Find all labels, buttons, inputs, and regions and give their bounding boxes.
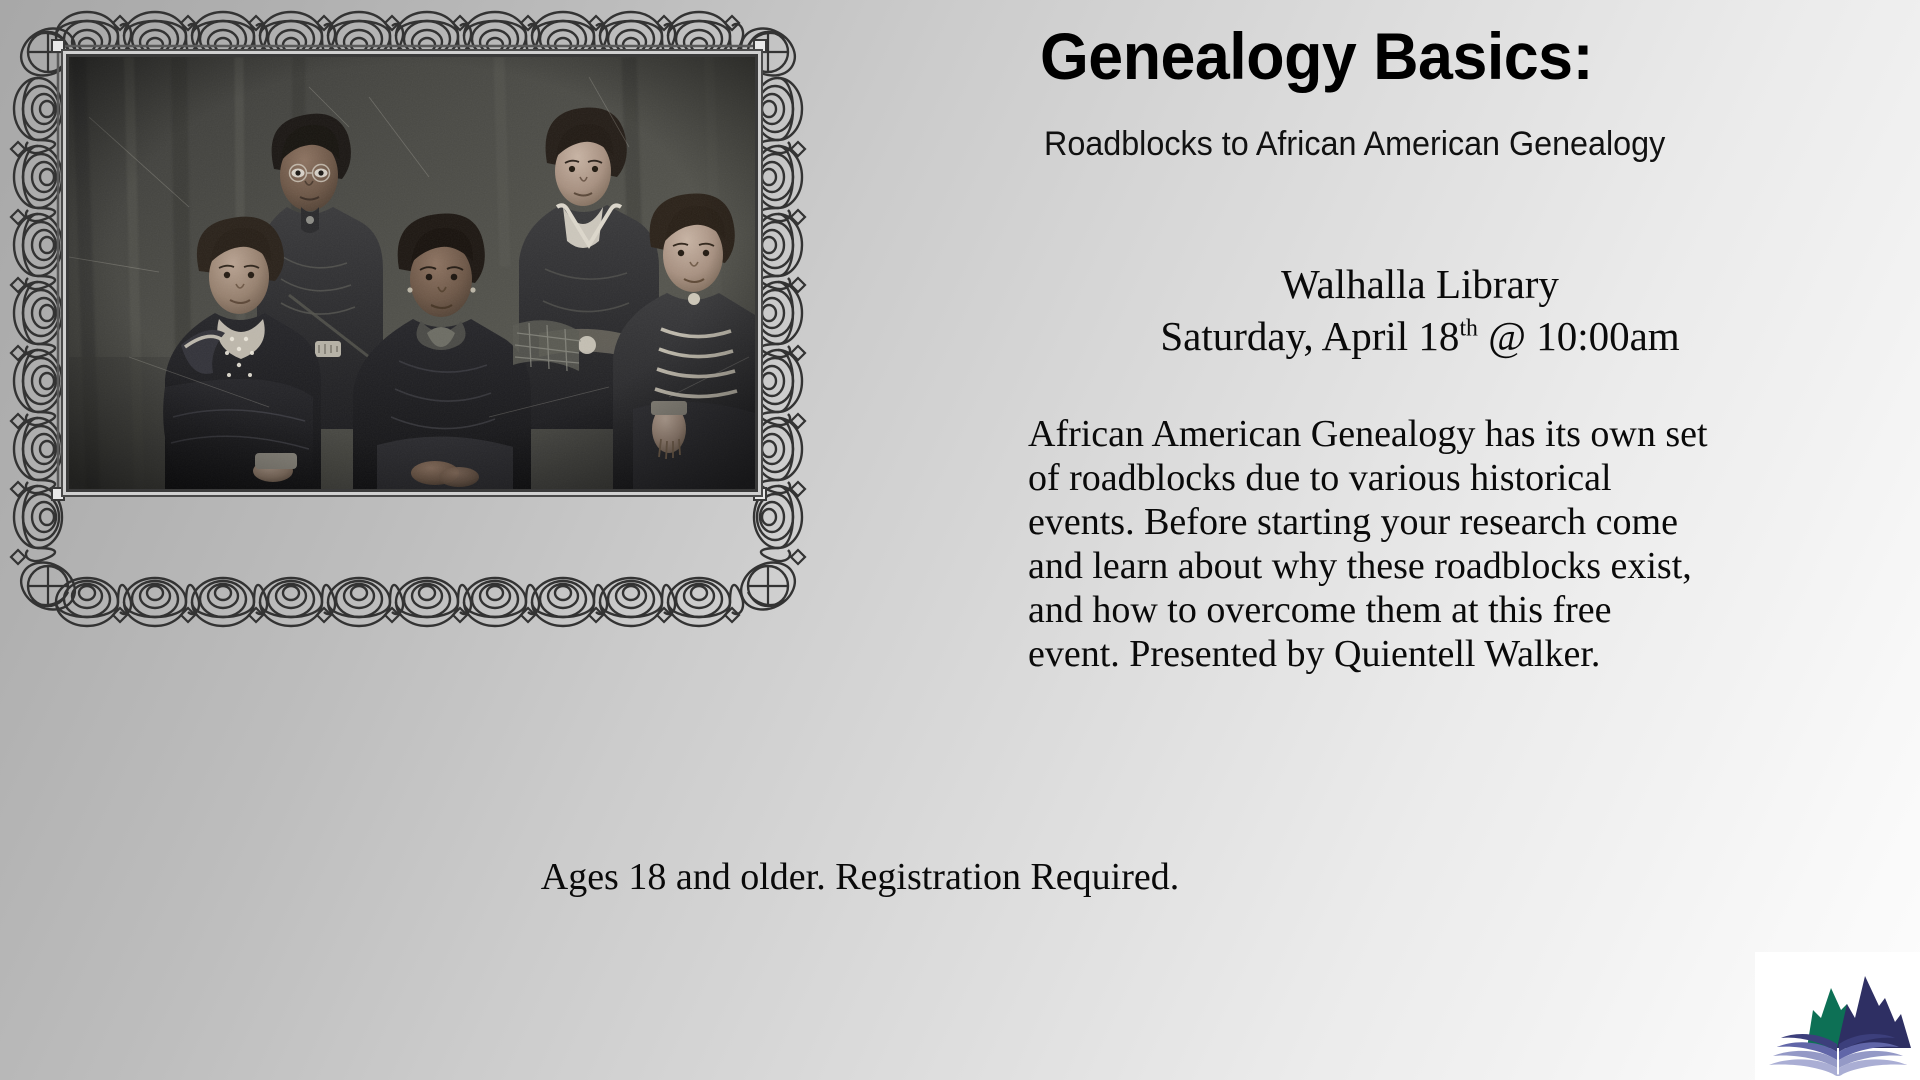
photograph-mat xyxy=(66,54,758,492)
event-details: Walhalla Library Saturday, April 18th @ … xyxy=(1020,258,1820,363)
event-time: @ 10:00am xyxy=(1478,313,1680,359)
flyer-title: Genealogy Basics: xyxy=(1040,22,1593,91)
registration-notice: Ages 18 and older. Registration Required… xyxy=(300,855,1420,901)
flyer-subtitle: Roadblocks to African American Genealogy xyxy=(1044,124,1665,165)
library-logo xyxy=(1755,952,1920,1080)
event-description: African American Genealogy has its own s… xyxy=(1028,412,1708,676)
event-date-ordinal: th xyxy=(1459,316,1478,342)
event-description-text: African American Genealogy has its own s… xyxy=(1028,412,1708,676)
event-venue: Walhalla Library xyxy=(1020,258,1820,310)
framed-photograph xyxy=(8,4,808,634)
event-flyer: Genealogy Basics: Roadblocks to African … xyxy=(0,0,1920,1080)
event-date-prefix: Saturday, April 18 xyxy=(1160,313,1459,359)
historical-group-portrait xyxy=(69,57,755,489)
event-datetime: Saturday, April 18th @ 10:00am xyxy=(1020,310,1820,362)
